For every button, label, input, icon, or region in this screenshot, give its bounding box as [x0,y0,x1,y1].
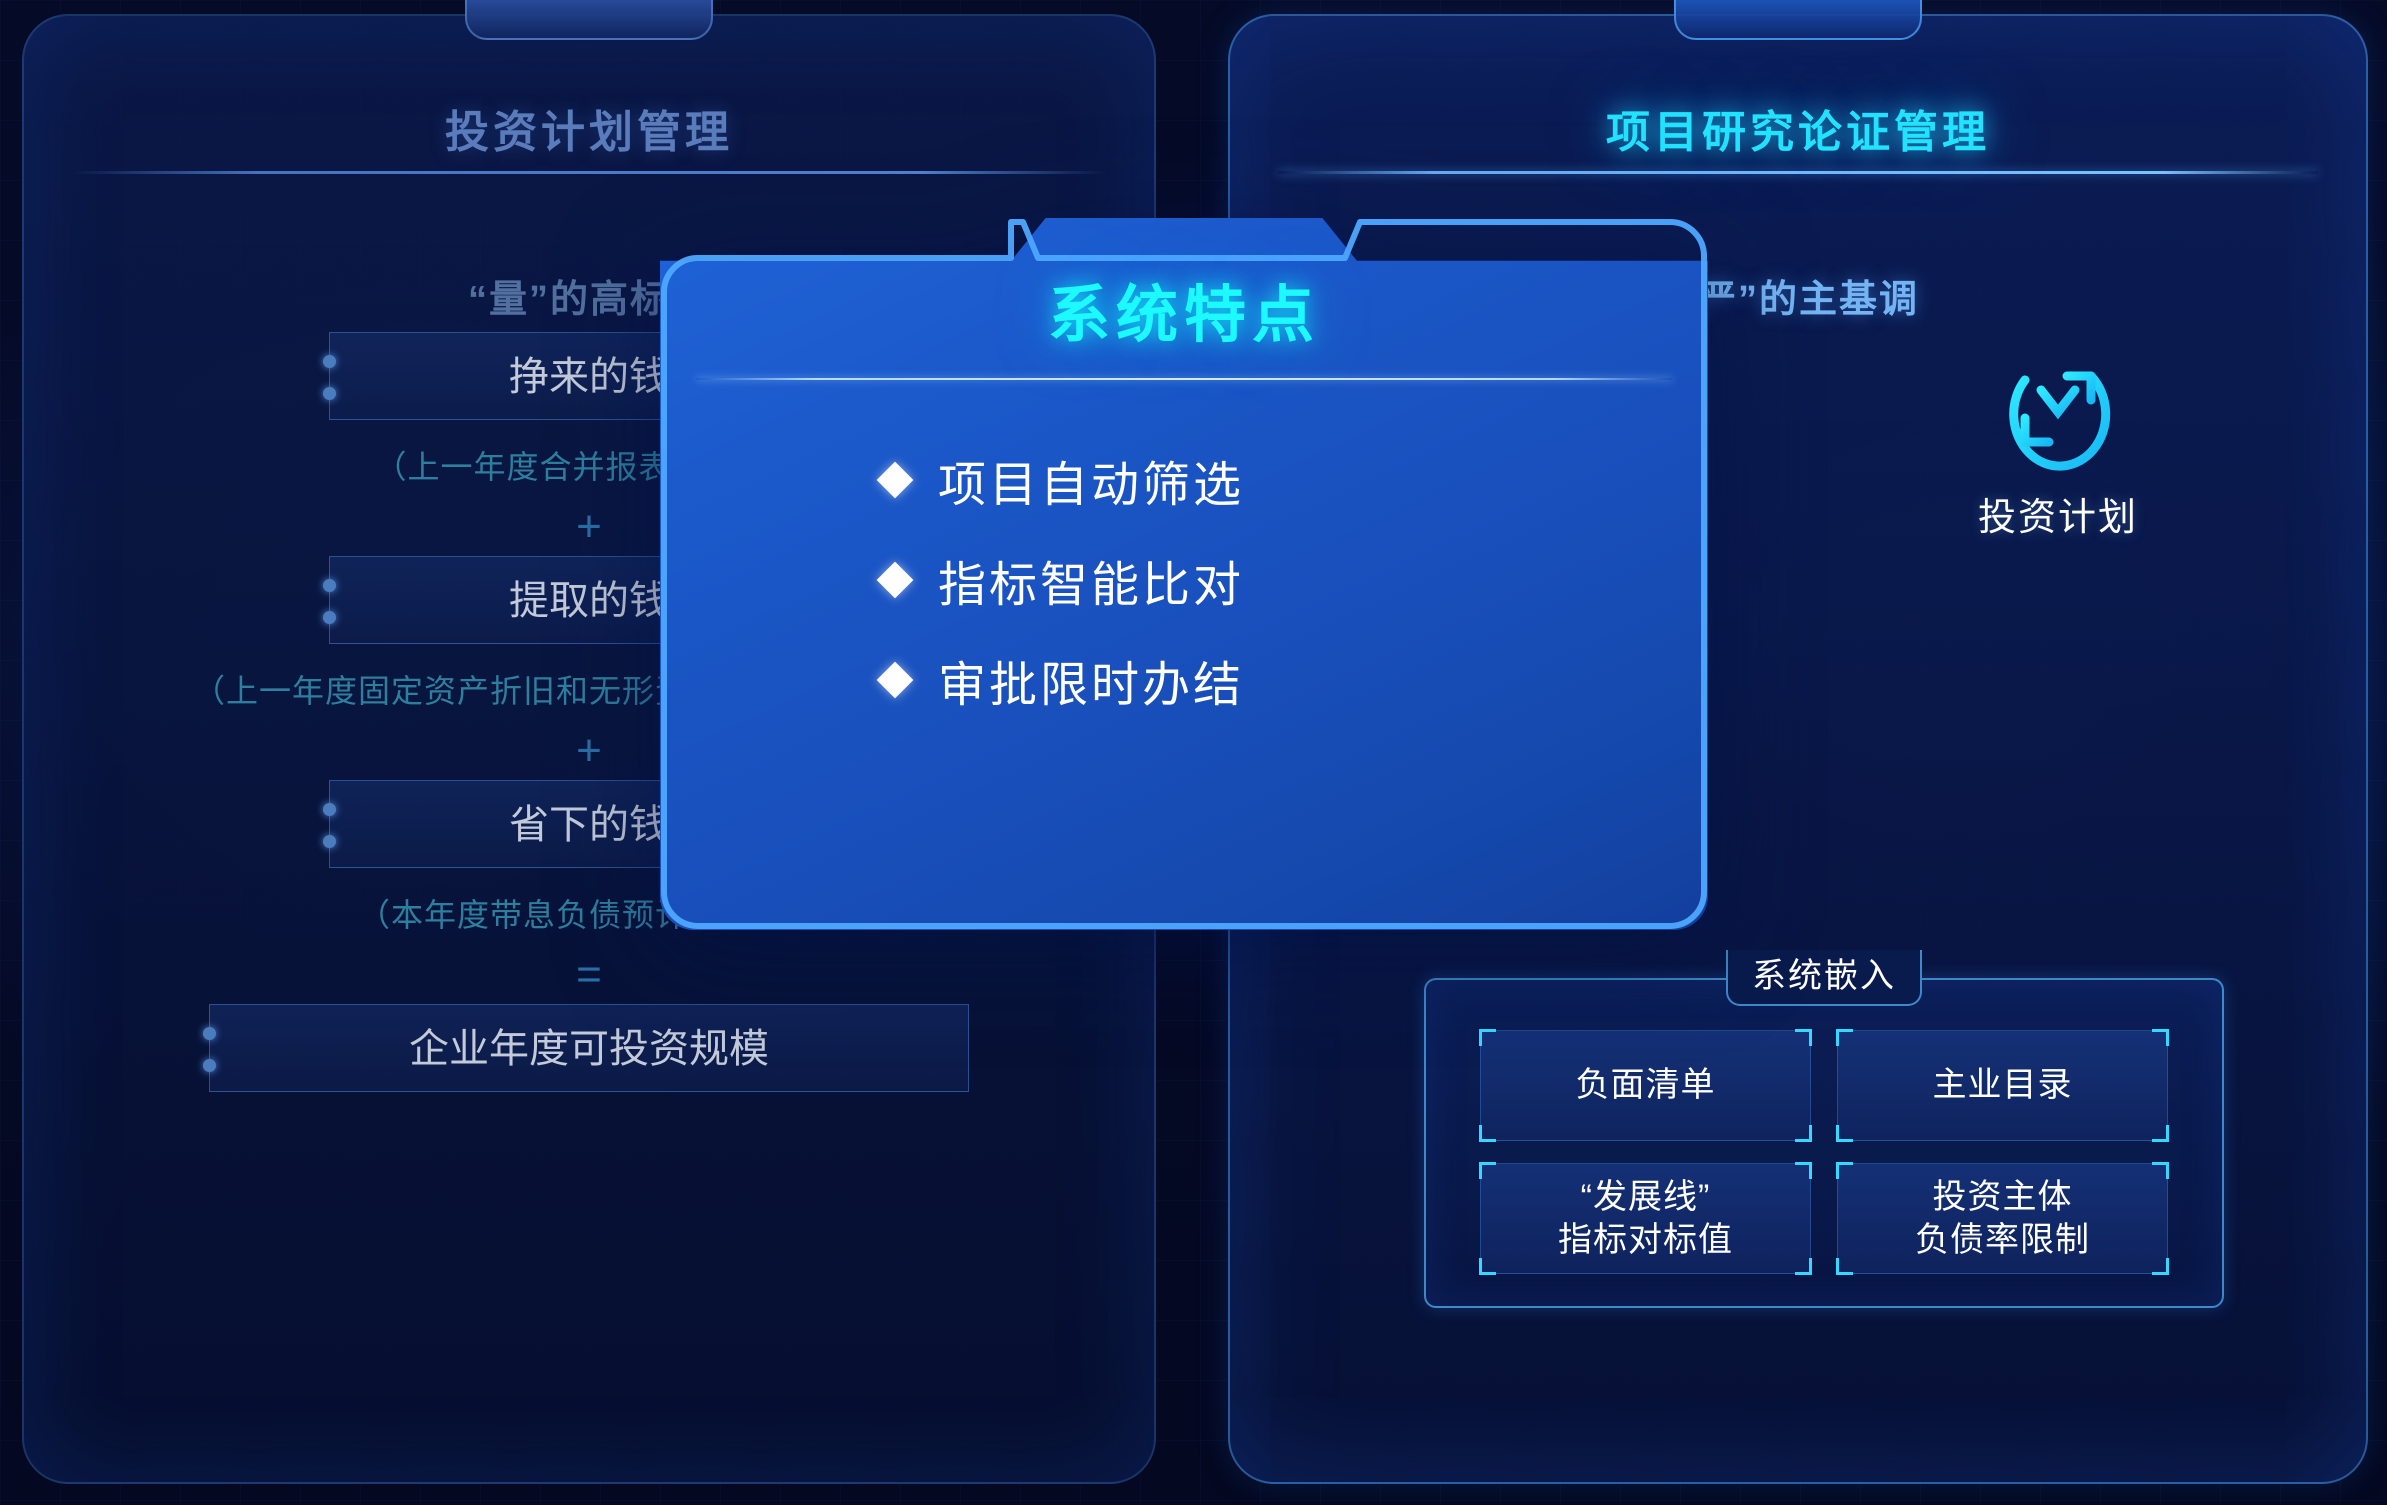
feature-bullet-label: 审批限时办结 [938,645,1244,715]
corner-bracket-icon [1479,1029,1496,1046]
embed-cell-line1: 投资主体 [1915,1176,2090,1219]
corner-bracket-icon [1479,1125,1496,1142]
embed-cell-negative-list[interactable]: 负面清单 [1480,1030,1811,1141]
box-dot-icon [323,387,336,400]
folder-card-title: 系统特点 [660,264,1708,354]
formula-operator: = [24,946,1154,1004]
diamond-bullet-icon [877,562,914,599]
corner-bracket-icon [1479,1162,1496,1179]
system-features-folder-card[interactable]: 系统特点 项目自动筛选 指标智能比对 审批限时办结 [660,218,1708,930]
corner-bracket-icon [2152,1258,2169,1275]
formula-box-label: 挣来的钱 [509,355,669,399]
corner-bracket-icon [1479,1258,1496,1275]
slide-canvas: 投资计划管理 “量”的高标准 挣来的钱 （上一年度合并报表净利润） + 提取的钱… [0,0,2387,1505]
embed-cell-main-business-catalog[interactable]: 主业目录 [1837,1030,2168,1141]
formula-box-label: 省下的钱 [509,803,669,847]
corner-bracket-icon [1836,1162,1853,1179]
corner-bracket-icon [2152,1162,2169,1179]
panel-top-notch-left [465,0,713,40]
corner-bracket-icon [1795,1258,1812,1275]
corner-bracket-icon [2152,1125,2169,1142]
box-dot-icon [203,1027,216,1040]
embed-cell-investor-liability[interactable]: 投资主体 负债率限制 [1837,1163,2168,1274]
box-dot-icon [323,835,336,848]
corner-bracket-icon [1836,1258,1853,1275]
left-panel-divider [72,171,1106,174]
feature-item-investment-plan[interactable]: 投资计划 [1800,346,2316,541]
box-dot-icon [323,355,336,368]
left-panel-title: 投资计划管理 [24,96,1154,160]
corner-bracket-icon [1795,1162,1812,1179]
formula-box-label: 提取的钱 [509,579,669,623]
feature-item-spacer [1852,595,2316,794]
feature-bullet-row: 项目自动筛选 [882,430,1648,530]
feature-bullet-label: 指标智能比对 [938,545,1244,615]
embed-cell-line1: 负面清单 [1576,1064,1716,1107]
corner-bracket-icon [2152,1029,2169,1046]
folder-card-divider [696,378,1672,380]
feature-bullet-row: 审批限时办结 [882,630,1648,730]
box-dot-icon [323,579,336,592]
box-dot-icon [323,611,336,624]
folder-card-feature-list: 项目自动筛选 指标智能比对 审批限时办结 [882,430,1648,730]
embed-cell-line1: 主业目录 [1933,1064,2073,1107]
feature-bullet-row: 指标智能比对 [882,530,1648,630]
embed-cell-line2: 指标对标值 [1558,1219,1733,1262]
corner-bracket-icon [1795,1125,1812,1142]
diamond-bullet-icon [877,462,914,499]
yuan-refresh-icon [1995,346,2121,472]
formula-box-label: 企业年度可投资规模 [409,1027,769,1071]
formula-box-result: 企业年度可投资规模 [209,1004,969,1092]
right-panel-divider [1278,171,2318,174]
feature-bullet-label: 项目自动筛选 [938,445,1244,515]
embed-cell-line1: “发展线” [1558,1176,1733,1219]
corner-bracket-icon [1836,1125,1853,1142]
corner-bracket-icon [1836,1029,1853,1046]
diamond-bullet-icon [877,662,914,699]
box-dot-icon [203,1059,216,1072]
right-panel-title: 项目研究论证管理 [1230,96,2366,160]
system-embed-group: 系统嵌入 负面清单 主业目录 [1424,978,2224,1308]
feature-label: 投资计划 [1800,486,2316,541]
corner-bracket-icon [1795,1029,1812,1046]
panel-top-notch-right [1674,0,1922,40]
embed-cell-development-line[interactable]: “发展线” 指标对标值 [1480,1163,1811,1274]
embed-cell-line2: 负债率限制 [1915,1219,2090,1262]
box-dot-icon [323,803,336,816]
